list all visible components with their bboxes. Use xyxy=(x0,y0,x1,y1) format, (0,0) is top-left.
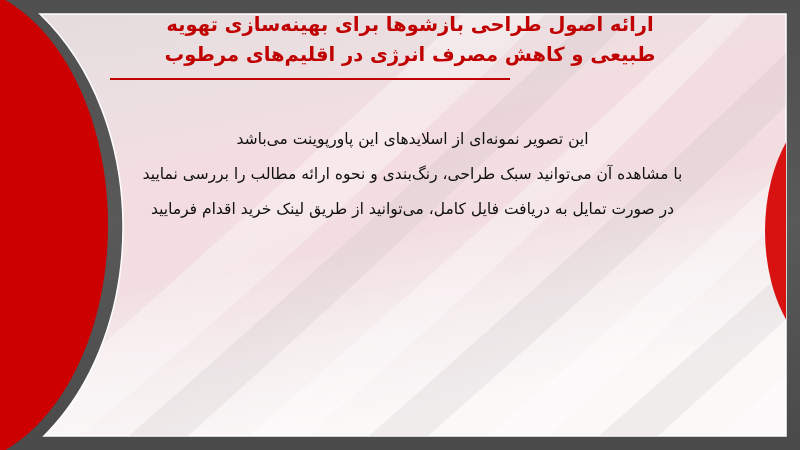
title-line-1: ارائه اصول طراحی بازشوها برای بهینه‌سازی… xyxy=(60,10,760,40)
title-line-2: طبیعی و کاهش مصرف انرژی در اقلیم‌های مرط… xyxy=(60,40,760,70)
slide-text-layer: ارائه اصول طراحی بازشوها برای بهینه‌سازی… xyxy=(0,0,800,450)
body-line-1: این تصویر نمونه‌ای از اسلایدهای این پاور… xyxy=(60,122,765,157)
title-underline-rule xyxy=(110,78,510,80)
slide-canvas: ارائه اصول طراحی بازشوها برای بهینه‌سازی… xyxy=(0,0,800,450)
slide-title: ارائه اصول طراحی بازشوها برای بهینه‌سازی… xyxy=(60,10,760,70)
body-line-3: در صورت تمایل به دریافت فایل کامل، می‌تو… xyxy=(60,192,765,227)
body-line-2: با مشاهده آن می‌توانید سبک طراحی، رنگ‌بن… xyxy=(60,157,765,192)
slide-body: این تصویر نمونه‌ای از اسلایدهای این پاور… xyxy=(60,122,765,227)
